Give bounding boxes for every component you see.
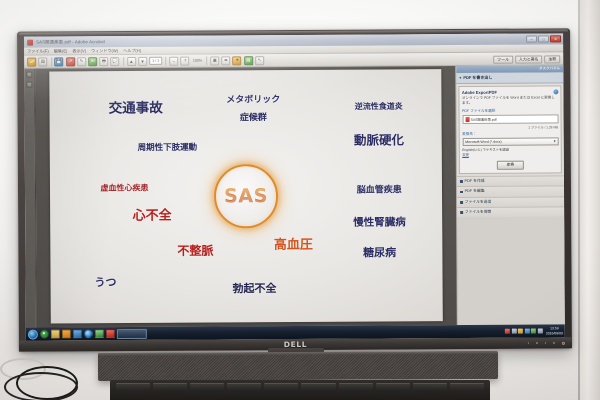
task-pane: タスクパネル PDF を書き出し Adobe ExportPDF オンラインで … <box>455 65 565 325</box>
osd-button-dot[interactable] <box>528 342 530 344</box>
keyboard-key-row <box>116 383 484 391</box>
menu-item-help[interactable]: ヘルプ(H) <box>123 47 141 53</box>
section-bullet-icon <box>460 191 463 194</box>
fit-width-icon[interactable]: ⬌ <box>221 56 230 65</box>
convert-button-wrap: 変換 <box>462 160 558 170</box>
save-icon[interactable]: 💾 <box>55 57 64 66</box>
section-bullet-icon <box>460 180 463 183</box>
previous-page-icon[interactable]: ▲ <box>127 56 136 65</box>
sas-hub-circle: SAS <box>214 164 278 228</box>
section-title-send-files: ファイルを送信 <box>465 200 492 205</box>
file-meta: 1 ファイル / 1.28 MB <box>462 124 558 130</box>
page-thumbnails-icon[interactable] <box>26 72 32 78</box>
pdf-page: 交通事故 メタボリック 症候群 逆流性食道炎 周期性下肢運動 動脈硬化 虚血性心… <box>49 69 443 323</box>
tab-comment[interactable]: 注釈 <box>544 55 560 63</box>
task-pane-section-store-files[interactable]: ファイルを保管 <box>457 206 564 217</box>
task-pane-filler <box>457 217 565 325</box>
term-arteriosclerosis: 動脈硬化 <box>354 133 404 147</box>
window-controls: – □ ✕ <box>526 35 561 42</box>
section-bullet-icon <box>460 201 463 204</box>
update-icon[interactable] <box>511 329 516 334</box>
keyboard-key <box>376 383 410 391</box>
term-reflux-esophagitis: 逆流性食道炎 <box>355 103 403 112</box>
chevron-down-icon <box>459 77 461 79</box>
toolbar-divider-3 <box>166 56 167 65</box>
term-periodic-limb-movement: 周期性下肢運動 <box>138 144 198 154</box>
power-button-icon[interactable] <box>562 341 565 344</box>
keyboard-key <box>190 383 224 391</box>
security-icon[interactable] <box>505 329 510 334</box>
ocr-change-link[interactable]: 変更 <box>462 153 469 157</box>
notes-icon[interactable] <box>62 329 71 338</box>
menu-item-window[interactable]: ウィンドウ(W) <box>91 48 118 54</box>
term-traffic-accident: 交通事故 <box>109 101 163 116</box>
sticky-note-icon[interactable]: ▤ <box>244 56 253 65</box>
page-thumbnails-icon[interactable]: ▤ <box>38 57 47 66</box>
export-pdf-card: Adobe ExportPDF オンラインで PDF ファイルを Word また… <box>458 85 562 173</box>
dell-monitor: SAS関連疾患.pdf - Adobe Acrobat – □ ✕ ファイル(F… <box>17 28 572 351</box>
system-tray: 13:59 2016/09/09 <box>505 324 564 337</box>
monitor-osd-buttons[interactable] <box>528 341 565 344</box>
keyboard-key <box>153 383 187 391</box>
export-brand-name: Adobe ExportPDF <box>462 89 497 94</box>
battery-icon[interactable] <box>537 328 542 333</box>
osd-button-dot[interactable] <box>536 342 538 344</box>
clock-date: 2016/09/09 <box>546 331 563 335</box>
black-cable-loop-2 <box>4 372 78 400</box>
open-file-icon[interactable]: 📂 <box>27 57 36 66</box>
convert-button[interactable]: 変換 <box>497 161 524 171</box>
tool-tabs: ツール 入力と署名 注釈 <box>493 55 560 63</box>
pointer-icon[interactable]: ↖ <box>255 56 264 65</box>
term-chronic-kidney-disease: 慢性腎臓病 <box>353 217 406 229</box>
window-body: 交通事故 メタボリック 症候群 逆流性食道炎 周期性下肢運動 動脈硬化 虚血性心… <box>24 65 565 327</box>
term-metabolic-line1: メタボリック <box>226 95 280 105</box>
windows-start-icon[interactable] <box>28 329 38 339</box>
section-title-store-files: ファイルを保管 <box>465 210 492 215</box>
acrobat-icon[interactable] <box>106 329 115 338</box>
term-metabolic-line2: 症候群 <box>240 113 267 123</box>
tab-tools[interactable]: ツール <box>493 55 513 63</box>
chrome-icon[interactable] <box>40 330 49 339</box>
keyboard-key <box>116 383 150 391</box>
menu-item-view[interactable]: 表示(V) <box>72 48 86 54</box>
taskbar-clock[interactable]: 13:59 2016/09/09 <box>544 327 563 336</box>
monitor-screen: SAS関連疾患.pdf - Adobe Acrobat – □ ✕ ファイル(F… <box>24 33 565 340</box>
keyboard-key <box>450 383 484 391</box>
ime-icon[interactable] <box>518 329 523 334</box>
maximize-button[interactable]: □ <box>538 35 549 42</box>
sas-label: SAS <box>224 185 268 207</box>
print-icon[interactable]: 🖶 <box>99 57 108 66</box>
comment-icon[interactable]: 💬 <box>111 57 120 66</box>
zoom-in-icon[interactable]: ＋ <box>181 56 190 65</box>
tab-fill-sign[interactable]: 入力と署名 <box>515 55 543 63</box>
export-brand-row: Adobe ExportPDF <box>462 89 558 95</box>
internet-explorer-icon[interactable] <box>84 329 93 338</box>
keyboard-key <box>301 383 335 391</box>
term-heart-failure: 心不全 <box>133 210 172 225</box>
selected-file-name: SAS関連疾患.pdf <box>471 117 497 122</box>
keyboard-key <box>227 383 261 391</box>
soundbar-top-edge <box>98 351 498 356</box>
term-depression: うつ <box>94 277 116 289</box>
soundbar <box>98 351 498 381</box>
acrobat-window: SAS関連疾患.pdf - Adobe Acrobat – □ ✕ ファイル(F… <box>24 33 565 340</box>
task-pane-section-send-files[interactable]: ファイルを送信 <box>457 196 564 207</box>
file-select-label: PDF ファイルを選択 <box>462 108 558 114</box>
menu-item-edit[interactable]: 編集(E) <box>54 48 68 54</box>
keyboard-key <box>264 383 298 391</box>
fit-page-icon[interactable]: ▣ <box>210 56 219 65</box>
keyboard-key <box>413 383 447 391</box>
section-bullet-icon <box>460 211 463 214</box>
term-hypertension: 高血圧 <box>274 239 313 254</box>
term-ischemic-heart-disease: 虚血性心疾患 <box>100 185 148 194</box>
term-cerebrovascular-disease: 脳血管疾患 <box>357 185 402 195</box>
next-page-icon[interactable]: ▼ <box>138 56 147 65</box>
minimize-button[interactable]: – <box>526 36 537 43</box>
chevron-down-icon <box>553 140 555 142</box>
export-description: オンラインで PDF ファイルを Word または Excel に変換します。 <box>462 95 558 106</box>
bookmarks-icon[interactable] <box>26 82 32 88</box>
excel-icon[interactable] <box>95 329 104 338</box>
window-title: SAS関連疾患.pdf - Adobe Acrobat <box>36 39 105 45</box>
zoom-out-icon[interactable]: − <box>169 56 178 65</box>
wall-right <box>578 0 600 400</box>
format-label: 変換先： <box>462 131 558 137</box>
toolbar-divider <box>51 57 52 66</box>
email-icon[interactable]: ✉ <box>88 57 97 66</box>
format-select[interactable]: Microsoft Word (*.docx) <box>462 137 558 146</box>
task-pane-section-edit-pdf[interactable]: PDF を編集 <box>457 186 564 197</box>
volume-icon[interactable] <box>531 329 536 334</box>
osd-button-dot[interactable] <box>545 342 547 344</box>
ocr-note: English(U.S.) でテキストを認識 変更 <box>462 148 558 158</box>
close-button[interactable]: ✕ <box>550 35 561 42</box>
taskbar-window-button[interactable] <box>117 328 147 338</box>
task-pane-section-export-pdf[interactable]: PDF を書き出し <box>456 72 563 84</box>
task-pane-section-create-pdf[interactable]: PDF を作成 <box>457 175 564 186</box>
term-erectile-dysfunction: 勃起不全 <box>232 283 276 296</box>
acrobat-icon <box>27 39 33 45</box>
ocr-note-text: English(U.S.) でテキストを認識 <box>462 148 509 152</box>
highlight-icon[interactable]: ✦ <box>233 56 242 65</box>
export-icon[interactable]: ↗ <box>66 57 75 66</box>
format-value: Microsoft Word (*.docx) <box>465 139 502 143</box>
selected-file-row[interactable]: SAS関連疾患.pdf <box>462 114 558 124</box>
keyboard <box>110 380 490 400</box>
zoom-level-field[interactable]: 100% <box>192 59 203 63</box>
photo-scene: SAS関連疾患.pdf - Adobe Acrobat – □ ✕ ファイル(F… <box>0 0 600 400</box>
section-title-export-pdf: PDF を書き出し <box>463 75 492 81</box>
wall-corner-line <box>578 0 580 400</box>
document-viewport[interactable]: 交通事故 メタボリック 症候群 逆流性食道炎 周期性下肢運動 動脈硬化 虚血性心… <box>35 66 457 328</box>
toolbar-divider-4 <box>206 56 207 65</box>
cloud-badge-icon <box>553 89 558 94</box>
sign-icon[interactable]: ✎ <box>77 57 86 66</box>
page-number-field[interactable]: 1 / 1 <box>149 57 162 65</box>
toolbar-divider-2 <box>123 57 124 66</box>
menu-item-file[interactable]: ファイル(F) <box>27 48 49 54</box>
term-arrhythmia: 不整脈 <box>177 245 213 259</box>
section-title-edit-pdf: PDF を編集 <box>465 189 485 194</box>
osd-button-dot[interactable] <box>553 342 555 344</box>
mail-icon[interactable] <box>73 329 82 338</box>
section-title-create-pdf: PDF を作成 <box>465 179 485 184</box>
term-diabetes: 糖尿病 <box>363 247 396 260</box>
pdf-file-icon <box>465 117 469 122</box>
keyboard-key <box>339 383 373 391</box>
network-icon[interactable] <box>524 329 529 334</box>
explorer-icon[interactable] <box>51 329 60 338</box>
